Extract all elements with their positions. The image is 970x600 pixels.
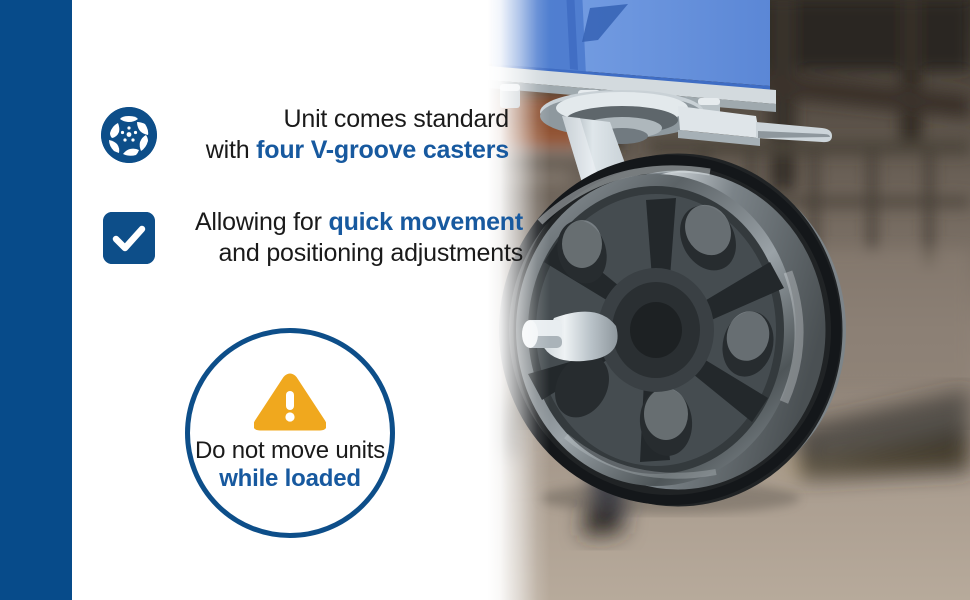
feature-text-casters: Unit comes standard with four V-groove c… [179,104,509,166]
warning-line-2: while loaded [219,465,361,493]
checkmark-icon [101,210,157,266]
feature-text-movement: Allowing for quick movement and position… [179,207,523,269]
feature-casters-line1: Unit comes standard [284,105,509,133]
caster-wheel-icon [101,107,157,163]
feature-row-casters: Unit comes standard with four V-groove c… [101,104,509,166]
content-column: Unit comes standard with four V-groove c… [72,0,502,600]
feature-row-movement: Allowing for quick movement and position… [101,207,523,269]
v-groove-caster-photo [470,0,970,600]
infographic-canvas: Unit comes standard with four V-groove c… [0,0,970,600]
warning-callout: Do not move units while loaded [185,328,395,538]
warning-triangle-icon [254,373,326,433]
warning-line-1: Do not move units [195,437,385,465]
feature-casters-line2-plain: with [206,136,256,164]
feature-casters-highlight: four V-groove casters [256,136,509,164]
feature-movement-line1-plain: Allowing for [195,208,329,236]
brand-accent-bar [0,0,72,600]
feature-movement-highlight: quick movement [329,208,523,236]
feature-movement-line2: and positioning adjustments [218,239,523,267]
